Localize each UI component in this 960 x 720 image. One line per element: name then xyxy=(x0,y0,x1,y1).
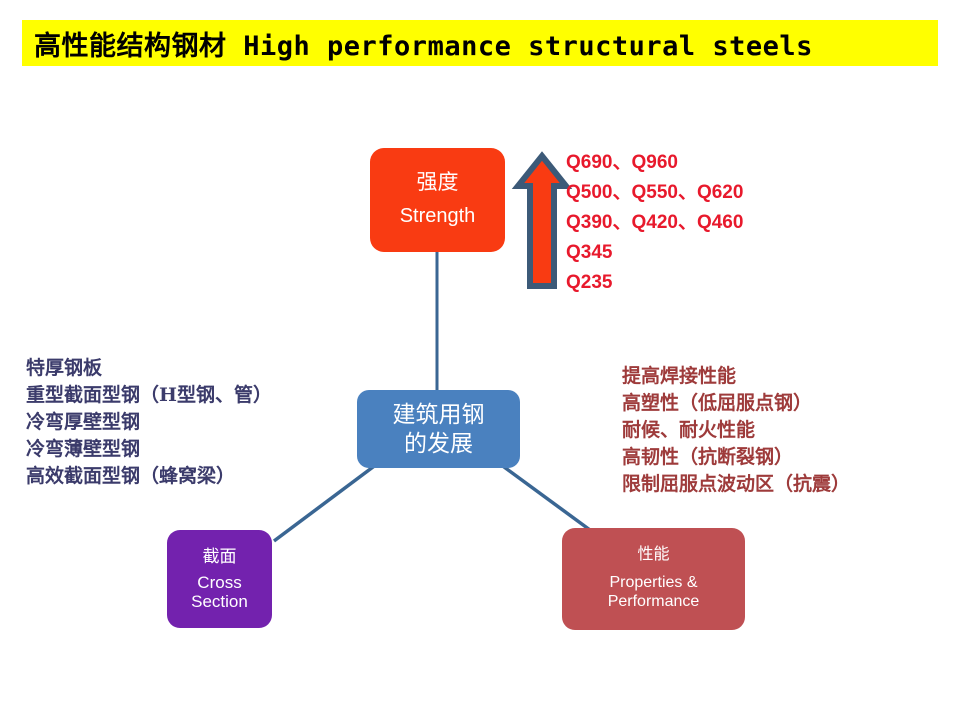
left-list-line: 高效截面型钢（蜂窝梁） xyxy=(26,463,356,490)
grade-line: Q500、Q550、Q620 xyxy=(566,178,743,208)
left-list-line: 冷弯厚壁型钢 xyxy=(26,409,356,436)
slide-canvas: 高性能结构钢材 High performance structural stee… xyxy=(0,0,960,720)
node-center-development[interactable]: 建筑用钢 的发展 xyxy=(357,390,520,468)
node-strength-cn: 强度 xyxy=(417,171,459,196)
node-cross-section-cn: 截面 xyxy=(203,547,237,567)
steel-grade-list: Q690、Q960 Q500、Q550、Q620 Q390、Q420、Q460 … xyxy=(566,148,743,298)
left-list-line: 特厚钢板 xyxy=(26,355,356,382)
right-list-line: 限制屈服点波动区（抗震） xyxy=(622,471,872,498)
node-strength[interactable]: 强度 Strength xyxy=(370,148,505,252)
node-center-line2: 的发展 xyxy=(404,430,473,457)
grade-line: Q390、Q420、Q460 xyxy=(566,208,743,238)
left-list-line: 重型截面型钢（H型钢、管） xyxy=(26,382,356,409)
grade-line: Q235 xyxy=(566,268,743,298)
properties-detail-list: 提高焊接性能 高塑性（低屈服点钢） 耐候、耐火性能 高韧性（抗断裂钢） 限制屈服… xyxy=(622,363,872,498)
node-properties-performance[interactable]: 性能 Properties & Performance xyxy=(562,528,745,630)
right-list-line: 耐候、耐火性能 xyxy=(622,417,872,444)
connector-center-to-properties xyxy=(500,464,590,530)
right-list-line: 高塑性（低屈服点钢） xyxy=(622,390,872,417)
right-list-line: 提高焊接性能 xyxy=(622,363,872,390)
node-properties-en-line2: Performance xyxy=(608,592,700,612)
node-properties-cn: 性能 xyxy=(637,546,669,565)
grade-line: Q690、Q960 xyxy=(566,148,743,178)
right-list-line: 高韧性（抗断裂钢） xyxy=(622,444,872,471)
node-properties-en-line1: Properties & xyxy=(609,573,697,593)
node-strength-en: Strength xyxy=(400,205,476,229)
grade-line: Q345 xyxy=(566,238,743,268)
strength-increase-arrow xyxy=(518,156,566,286)
left-list-line: 冷弯薄壁型钢 xyxy=(26,436,356,463)
cross-section-detail-list: 特厚钢板 重型截面型钢（H型钢、管） 冷弯厚壁型钢 冷弯薄壁型钢 高效截面型钢（… xyxy=(26,355,356,490)
node-cross-section-en-line2: Section xyxy=(191,593,248,612)
node-cross-section-en-line1: Cross xyxy=(197,574,241,593)
node-center-line1: 建筑用钢 xyxy=(393,401,485,428)
node-cross-section[interactable]: 截面 Cross Section xyxy=(167,530,272,628)
